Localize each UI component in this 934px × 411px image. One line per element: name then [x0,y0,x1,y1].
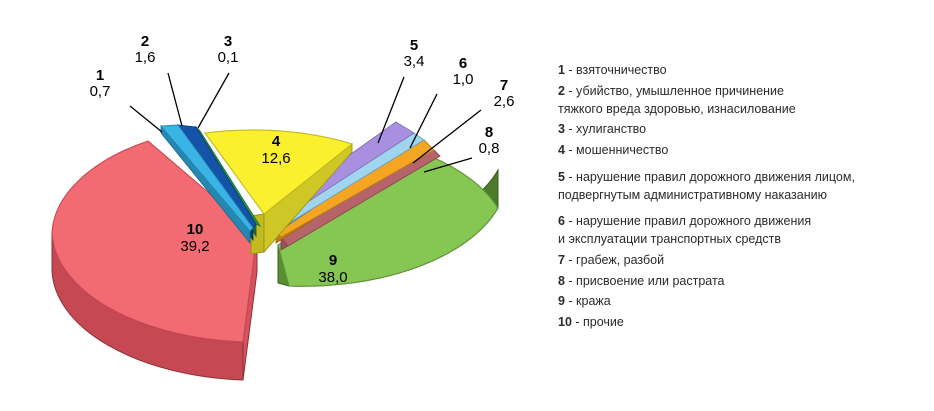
callout-6-value: 1,0 [440,72,486,88]
legend-item-9[interactable]: 9 - кража [558,293,930,311]
slice-4-index: 4 [248,134,304,151]
callout-2-value: 1,6 [122,50,168,66]
legend-9-number: 9 [558,294,565,308]
slice-4-value: 12,6 [248,151,304,168]
legend-item-5[interactable]: 5 - нарушение правил дорожного движения … [558,169,930,205]
callout-6-index: 6 [440,56,486,72]
legend-10-text: - прочие [572,315,624,329]
callout-7-index: 7 [481,78,527,94]
legend-2-continuation: тяжкого вреда здоровью, изнасилование [558,101,930,119]
legend-6-continuation: и эксплуатации транспортных средств [558,231,930,249]
slice-label-9: 9 38,0 [305,253,361,286]
legend-2-text: - убийство, умышленное причинение [565,84,784,98]
legend-1-text: - взяточничество [565,63,667,77]
legend-7-text: - грабеж, разбой [565,253,664,267]
legend-3-number: 3 [558,122,565,136]
callout-label-5: 5 3,4 [391,38,437,70]
legend-item-4[interactable]: 4 - мошенничество [558,142,930,160]
callout-8-value: 0,8 [466,141,512,157]
legend-3-text: - хулиганство [565,122,646,136]
callout-label-6: 6 1,0 [440,56,486,88]
legend-6-text: - нарушение правил дорожного движения [565,214,811,228]
legend-4-text: - мошенничество [565,143,668,157]
legend-1-number: 1 [558,63,565,77]
callout-5-index: 5 [391,38,437,54]
callout-label-1: 1 0,7 [77,68,123,100]
slice-9-value: 38,0 [305,270,361,287]
legend-item-3[interactable]: 3 - хулиганство [558,121,930,139]
callout-label-7: 7 2,6 [481,78,527,110]
callout-7-value: 2,6 [481,94,527,110]
callout-label-8: 8 0,8 [466,125,512,157]
slice-label-10: 10 39,2 [165,222,225,255]
legend-5-number: 5 [558,170,565,184]
legend-5-continuation: подвергнутым административному наказанию [558,187,930,205]
slice-10-value: 39,2 [165,239,225,256]
leader-line-3 [198,73,229,128]
legend-item-7[interactable]: 7 - грабеж, разбой [558,252,930,270]
callout-3-value: 0,1 [205,50,251,66]
slice-9-index: 9 [305,253,361,270]
legend-item-6[interactable]: 6 - нарушение правил дорожного движения … [558,213,930,249]
legend-4-number: 4 [558,143,565,157]
callout-8-index: 8 [466,125,512,141]
callout-3-index: 3 [205,34,251,50]
legend-2-number: 2 [558,84,565,98]
legend-5-text: - нарушение правил дорожного движения ли… [565,170,855,184]
leader-line-1 [130,106,162,132]
callout-5-value: 3,4 [391,54,437,70]
leader-line-2 [168,73,182,126]
callout-1-index: 1 [77,68,123,84]
legend-8-number: 8 [558,274,565,288]
legend-10-number: 10 [558,315,572,329]
legend-item-1[interactable]: 1 - взяточничество [558,62,930,80]
legend: 1 - взяточничество 2 - убийство, умышлен… [558,62,930,335]
legend-6-number: 6 [558,214,565,228]
legend-item-10[interactable]: 10 - прочие [558,314,930,332]
legend-item-2[interactable]: 2 - убийство, умышленное причинение тяжк… [558,83,930,119]
callout-label-3: 3 0,1 [205,34,251,66]
pie-chart-figure: 1 0,7 2 1,6 3 0,1 5 3,4 6 1,0 7 2,6 8 0,… [0,0,934,411]
callout-1-value: 0,7 [77,84,123,100]
slice-10-index: 10 [165,222,225,239]
legend-8-text: - присвоение или растрата [565,274,725,288]
legend-7-number: 7 [558,253,565,267]
callout-label-2: 2 1,6 [122,34,168,66]
slice-label-4: 4 12,6 [248,134,304,167]
legend-item-8[interactable]: 8 - присвоение или растрата [558,273,930,291]
chart-area: 1 0,7 2 1,6 3 0,1 5 3,4 6 1,0 7 2,6 8 0,… [0,0,550,411]
callout-2-index: 2 [122,34,168,50]
legend-9-text: - кража [565,294,611,308]
